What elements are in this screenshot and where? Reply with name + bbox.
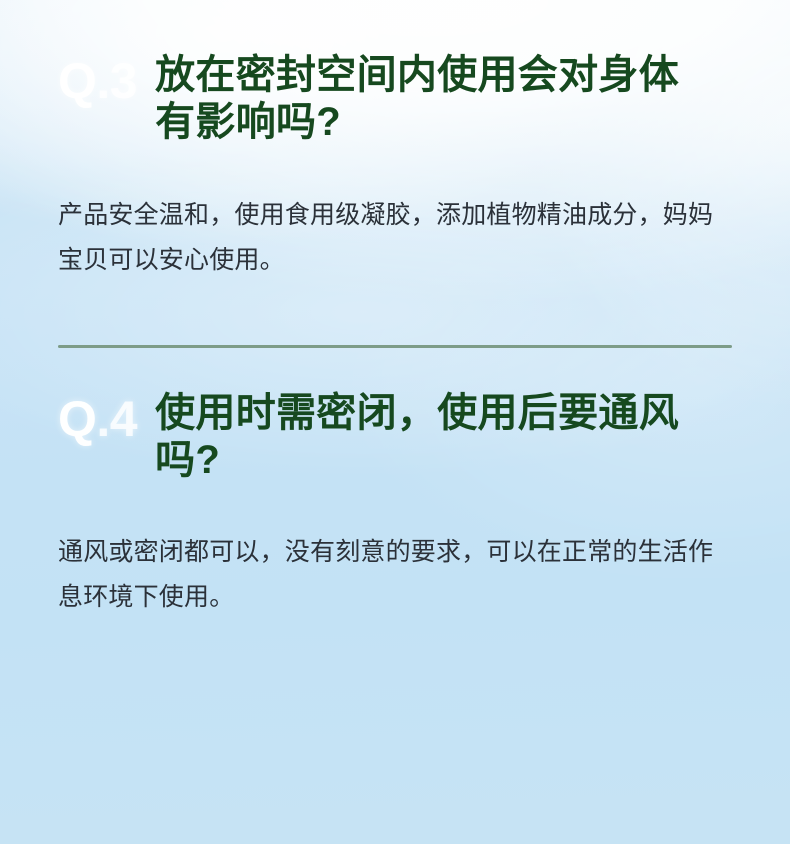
question-tag-letter-q3: Q: [58, 53, 96, 109]
faq-entry-q3: Q.3 放在密封空间内使用会对身体有影响吗? 产品安全温和，使用食用级凝胶，添加…: [58, 0, 732, 283]
question-tag-number-q3: .3: [96, 53, 137, 109]
faq-answer-text-q4: 通风或密闭都可以，没有刻意的要求，可以在正常的生活作息环境下使用。: [58, 530, 726, 620]
faq-question-text-q3: 放在密封空间内使用会对身体有影响吗?: [155, 52, 715, 146]
faq-answer-text-q3: 产品安全温和，使用食用级凝胶，添加植物精油成分，妈妈宝贝可以安心使用。: [58, 193, 726, 283]
faq-question-row-q3: Q.3 放在密封空间内使用会对身体有影响吗?: [58, 52, 732, 146]
question-number-badge-q3: Q.3: [58, 52, 137, 106]
question-tag-letter-q4: Q: [58, 391, 96, 447]
question-number-badge-q4: Q.4: [58, 390, 137, 444]
question-tag-number-q4: .4: [96, 391, 137, 447]
faq-question-text-q4: 使用时需密闭，使用后要通风吗?: [155, 390, 715, 484]
faq-question-row-q4: Q.4 使用时需密闭，使用后要通风吗?: [58, 390, 732, 484]
faq-page: Q.3 放在密封空间内使用会对身体有影响吗? 产品安全温和，使用食用级凝胶，添加…: [0, 0, 790, 844]
faq-entry-q4: Q.4 使用时需密闭，使用后要通风吗? 通风或密闭都可以，没有刻意的要求，可以在…: [58, 348, 732, 620]
